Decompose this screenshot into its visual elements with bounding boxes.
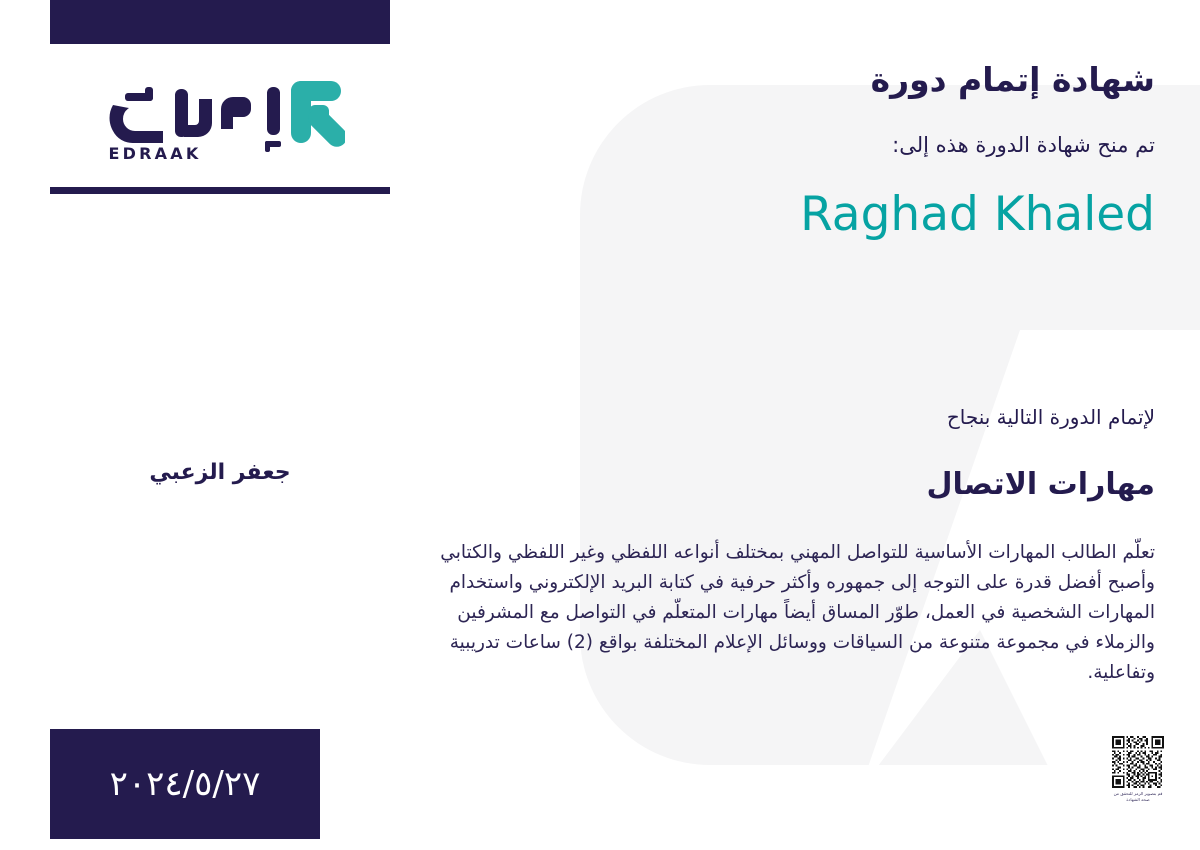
- completion-label: لإتمام الدورة التالية بنجاح: [410, 404, 1155, 430]
- course-description: تعلّم الطالب المهارات الأساسية للتواصل ا…: [410, 538, 1155, 688]
- certificate-content: شهادة إتمام دورة تم منح شهادة الدورة هذه…: [410, 0, 1155, 850]
- recipient-name: Raghad Khaled: [410, 186, 1155, 245]
- certificate-title: شهادة إتمام دورة: [410, 60, 1155, 100]
- granted-to-label: تم منح شهادة الدورة هذه إلى:: [410, 132, 1155, 159]
- verification-block: قم بتصوير الرمز للتحقق من صحة الشهادة: [1112, 736, 1164, 802]
- edraak-logo-icon: EDRAAK: [95, 75, 345, 165]
- certificate-canvas: EDRAAK جعفر الزعبي ٢٠٢٤/٥/٢٧ شهادة إتمام…: [0, 0, 1200, 850]
- issue-date-text: ٢٠٢٤/٥/٢٧: [110, 764, 261, 804]
- logo-divider-rule: [50, 187, 390, 194]
- qr-verification-caption: قم بتصوير الرمز للتحقق من صحة الشهادة: [1112, 791, 1164, 802]
- course-title: مهارات الاتصال: [410, 465, 1155, 504]
- top-navy-bar: [50, 0, 390, 44]
- qr-code-icon[interactable]: [1112, 736, 1164, 788]
- edraak-logo-latin-text: EDRAAK: [109, 144, 202, 163]
- issue-date-badge: ٢٠٢٤/٥/٢٧: [50, 729, 320, 839]
- signature-name: جعفر الزعبي: [50, 460, 390, 485]
- edraak-logo: EDRAAK: [50, 70, 390, 170]
